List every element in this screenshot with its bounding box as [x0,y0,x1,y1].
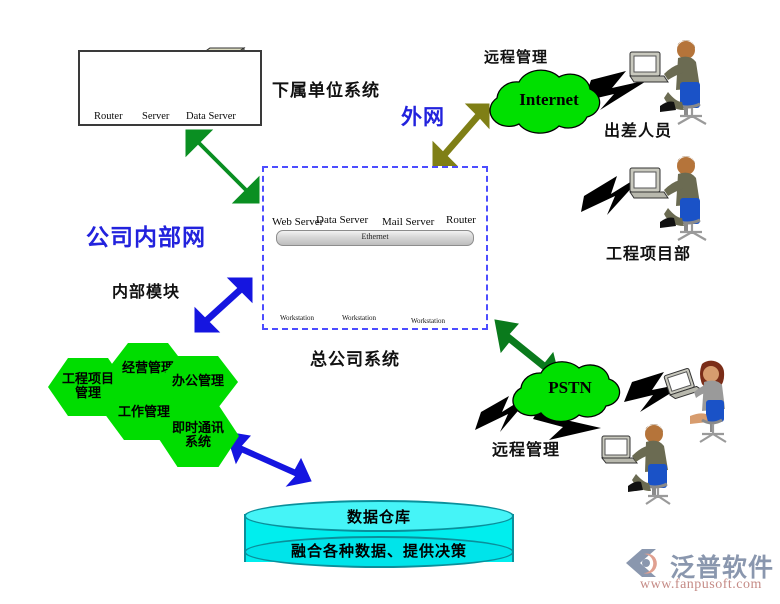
arrow-subsidiary-to-hq [183,128,259,203]
label-remote-management-top: 远程管理 [484,46,548,67]
label-company-intranet: 公司内部网 [86,218,206,252]
arrow-modules-to-hq [195,278,252,332]
data-warehouse-cylinder: 数据仓库 融合各种数据、提供决策 [244,500,514,578]
fanpu-logo-icon [622,546,668,580]
ethernet-bus-label: Ethernet [277,232,473,241]
module-label-office: 办公管理 [172,375,224,389]
pstn-cloud-label: PSTN [520,378,620,398]
internet-cloud-label: Internet [497,90,601,110]
label-subsidiary-system: 下属单位系统 [272,76,380,101]
ethernet-bus: Ethernet [276,230,474,246]
workstation-label-1: Workstation [280,314,314,322]
subsidiary-system-box: Router Server Data Server [78,50,262,126]
pstn-user-female [664,361,726,442]
data-warehouse-title: 数据仓库 [244,506,514,527]
label-internal-modules: 内部模块 [112,278,180,302]
pstn-user-male [602,424,670,504]
device-label-router: Router [94,111,123,122]
module-label-engineering: 工程项目 管理 [62,373,114,401]
module-label-im: 即时通讯 系统 [172,422,224,450]
device-label-server: Server [142,111,169,122]
label-hq-system: 总公司系统 [310,345,400,370]
label-remote-management-bottom: 远程管理 [492,436,560,460]
data-warehouse-subtitle: 融合各种数据、提供决策 [244,540,514,561]
device-label-data-server: Data Server [186,111,236,122]
workstation-label-3: Workstation [411,317,445,325]
project-dept-person [630,156,706,240]
module-label-work: 工作管理 [118,406,170,420]
workstation-label-2: Workstation [342,314,376,322]
traveling-staff-person [630,40,706,124]
arrow-modules-to-warehouse [226,432,311,486]
label-project-department: 工程项目部 [606,240,691,264]
watermark-url: www.fanpusoft.com [640,577,762,593]
label-traveling-staff: 出差人员 [604,117,672,141]
label-external-network: 外网 [401,101,445,131]
hq-system-box: Web Server Data Server Mail Server Route… [262,166,488,330]
watermark: 泛普软件 www.fanpusoft.com [622,546,772,598]
